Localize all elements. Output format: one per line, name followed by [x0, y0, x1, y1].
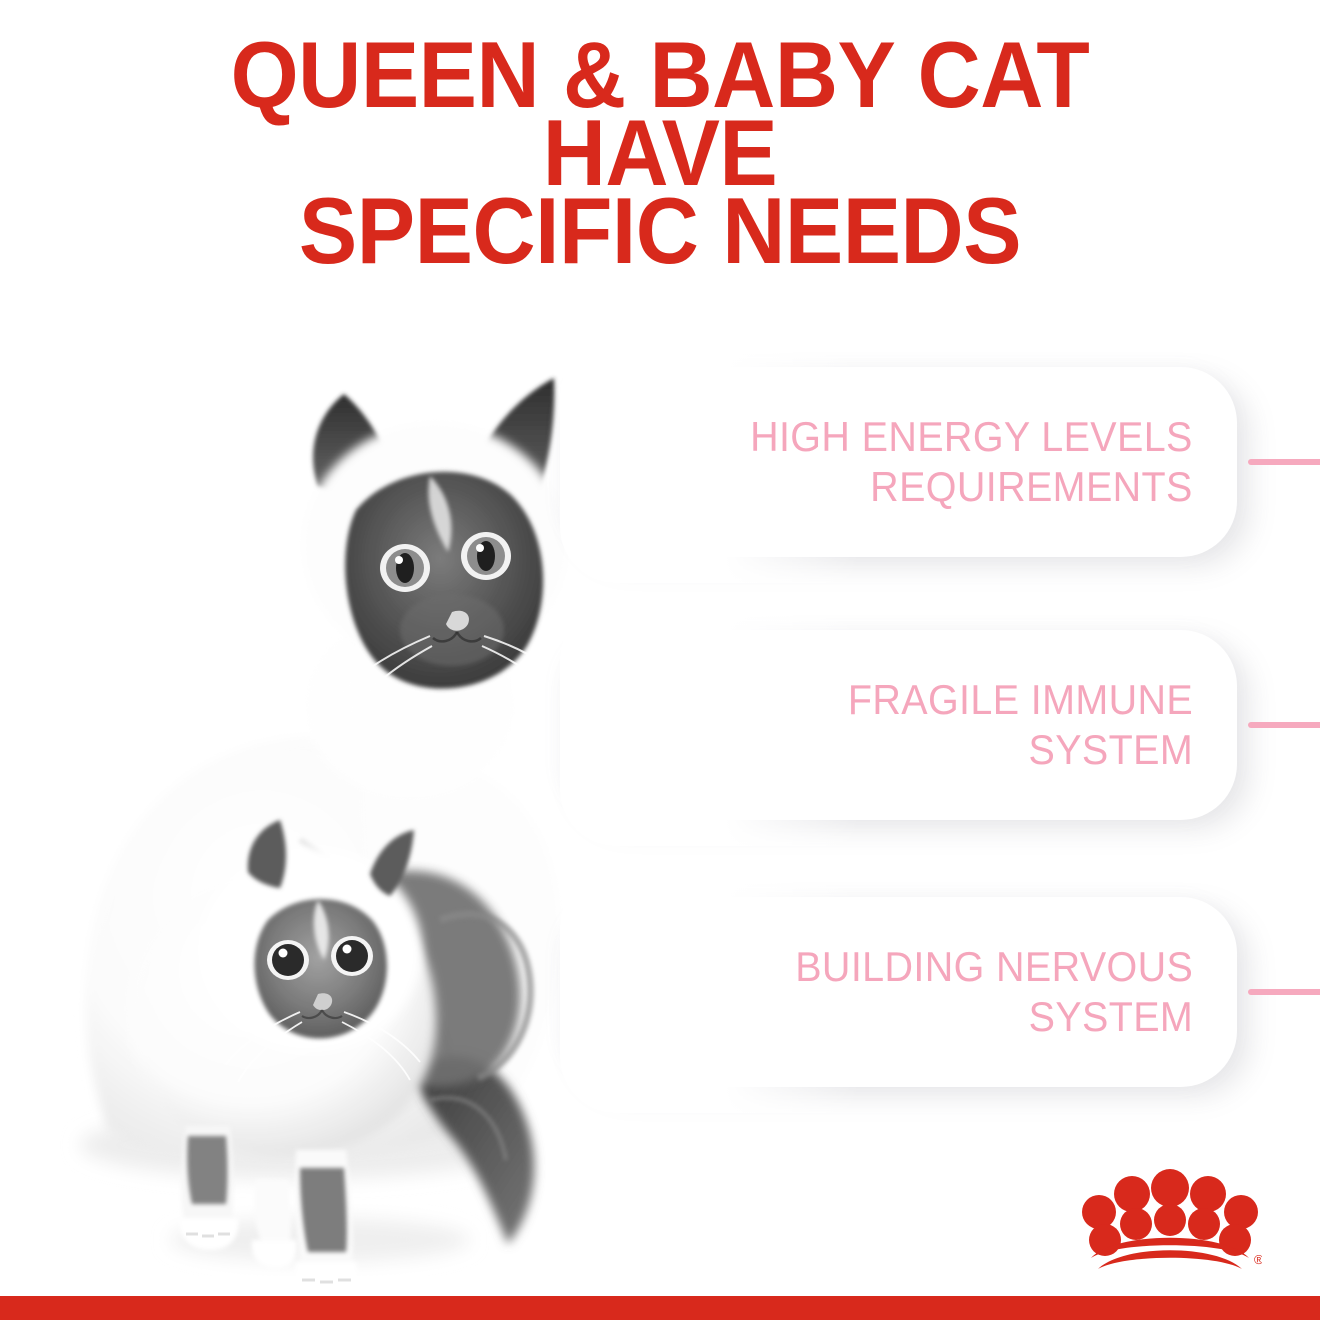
page-title: QUEEN & BABY CAT HAVE SPECIFIC NEEDS	[186, 36, 1135, 270]
callout-label: BUILDING NERVOUS SYSTEM	[795, 942, 1237, 1042]
callout-fragile-immune-system[interactable]: FRAGILE IMMUNE SYSTEM	[560, 630, 1237, 820]
callout-list: HIGH ENERGY LEVELS REQUIREMENTS FRAGILE …	[560, 340, 1320, 1130]
callout-high-energy-levels-requirements[interactable]: HIGH ENERGY LEVELS REQUIREMENTS	[560, 367, 1237, 557]
bottom-red-bar	[0, 1296, 1320, 1320]
callout-connector-line	[1248, 459, 1320, 465]
callout-label: HIGH ENERGY LEVELS REQUIREMENTS	[750, 412, 1237, 512]
registered-mark: ®	[1254, 1252, 1262, 1267]
callout-building-nervous-system[interactable]: BUILDING NERVOUS SYSTEM	[560, 897, 1237, 1087]
royal-canin-crown-icon: ®	[1078, 1168, 1262, 1272]
callout-label: FRAGILE IMMUNE SYSTEM	[848, 675, 1237, 775]
callout-connector-line	[1248, 989, 1320, 995]
callout-connector-line	[1248, 722, 1320, 728]
royal-canin-infographic: QUEEN & BABY CAT HAVE SPECIFIC NEEDS	[0, 0, 1320, 1320]
